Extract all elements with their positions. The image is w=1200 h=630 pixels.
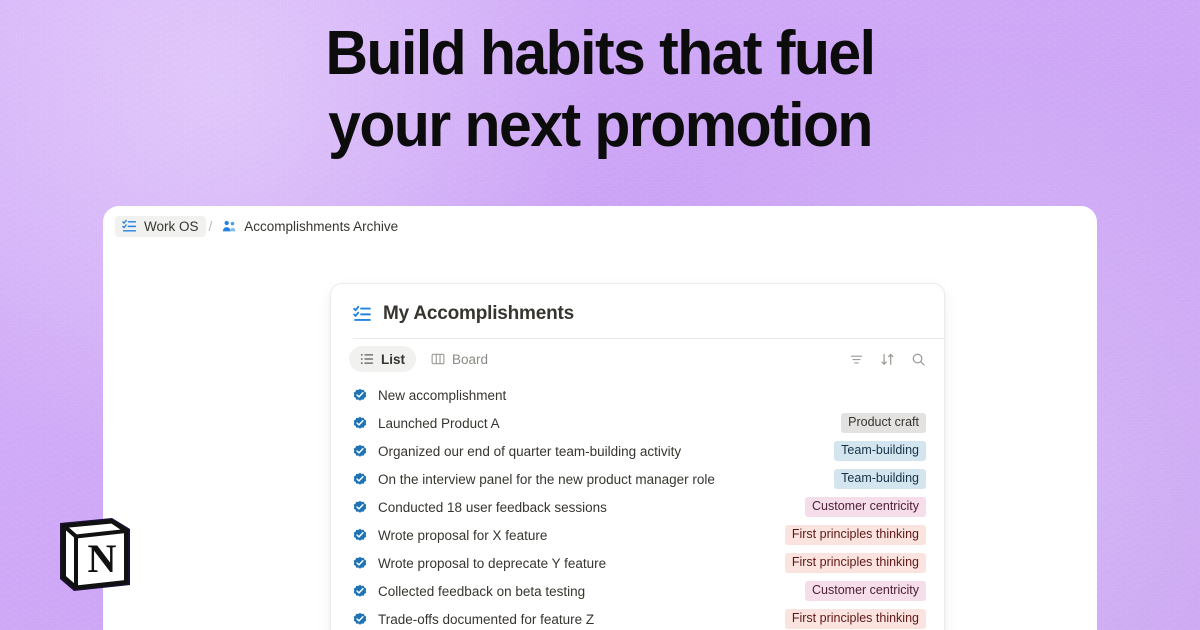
checklist-icon xyxy=(122,219,137,234)
search-icon[interactable] xyxy=(911,352,926,367)
tab-list-label: List xyxy=(381,352,405,367)
verified-check-icon xyxy=(353,416,367,430)
notion-logo: N xyxy=(50,509,138,597)
list-item-title: Wrote proposal to deprecate Y feature xyxy=(378,556,606,571)
list-item-tag[interactable]: First principles thinking xyxy=(785,609,926,629)
list-item-title: Launched Product A xyxy=(378,416,500,431)
breadcrumb-item-work-os[interactable]: Work OS xyxy=(115,216,206,237)
page-headline: Build habits that fuel your next promoti… xyxy=(0,18,1200,162)
list-item-title: On the interview panel for the new produ… xyxy=(378,472,715,487)
verified-check-icon xyxy=(353,472,367,486)
list-item-tag[interactable]: Team-building xyxy=(834,441,926,461)
list-item-title: Trade-offs documented for feature Z xyxy=(378,612,594,627)
list-item[interactable]: Trade-offs documented for feature Z Firs… xyxy=(353,605,926,630)
list-item-tag[interactable]: Team-building xyxy=(834,469,926,489)
list-item-title: Organized our end of quarter team-buildi… xyxy=(378,444,681,459)
board-icon xyxy=(431,352,445,366)
list-item[interactable]: Conducted 18 user feedback sessions Cust… xyxy=(353,493,926,521)
headline-line-2: your next promotion xyxy=(30,90,1170,162)
list-item[interactable]: Collected feedback on beta testing Custo… xyxy=(353,577,926,605)
toolbar-actions xyxy=(849,352,926,367)
breadcrumb: Work OS / Accomplishments Archive xyxy=(103,206,1097,246)
headline-line-1: Build habits that fuel xyxy=(30,18,1170,90)
svg-text:N: N xyxy=(88,536,117,581)
list-item[interactable]: On the interview panel for the new produ… xyxy=(353,465,926,493)
database-toolbar: List Board xyxy=(331,339,944,379)
verified-check-icon xyxy=(353,500,367,514)
checklist-icon xyxy=(353,305,372,324)
database-card: My Accomplishments List xyxy=(330,283,945,630)
verified-check-icon xyxy=(353,584,367,598)
verified-check-icon xyxy=(353,612,367,626)
list-item-tag[interactable]: First principles thinking xyxy=(785,525,926,545)
list-item-tag[interactable]: Customer centricity xyxy=(805,581,926,601)
list-item-tag[interactable]: Product craft xyxy=(841,413,926,433)
view-tabs: List Board xyxy=(349,346,499,372)
list-item[interactable]: Wrote proposal for X feature First princ… xyxy=(353,521,926,549)
list-item-title: Collected feedback on beta testing xyxy=(378,584,585,599)
list-item-tag[interactable]: Customer centricity xyxy=(805,497,926,517)
verified-check-icon xyxy=(353,388,367,402)
filter-icon[interactable] xyxy=(849,352,864,367)
app-window: Work OS / Accomplishments Archive My Acc… xyxy=(103,206,1097,630)
list-item[interactable]: Launched Product A Product craft xyxy=(353,409,926,437)
list-item-title: New accomplishment xyxy=(378,388,506,403)
page-title: My Accomplishments xyxy=(383,303,574,325)
tab-list[interactable]: List xyxy=(349,346,416,372)
tab-board-label: Board xyxy=(452,352,488,367)
breadcrumb-label-work-os: Work OS xyxy=(144,219,199,234)
sort-icon[interactable] xyxy=(880,352,895,367)
breadcrumb-separator: / xyxy=(206,219,216,234)
people-icon xyxy=(222,219,237,234)
list-item[interactable]: Wrote proposal to deprecate Y feature Fi… xyxy=(353,549,926,577)
verified-check-icon xyxy=(353,444,367,458)
accomplishments-list: New accomplishment Launched Product A Pr… xyxy=(331,379,944,630)
list-item-title: Conducted 18 user feedback sessions xyxy=(378,500,607,515)
list-item[interactable]: New accomplishment xyxy=(353,381,926,409)
database-title-row: My Accomplishments xyxy=(331,284,944,338)
list-item-tag[interactable]: First principles thinking xyxy=(785,553,926,573)
verified-check-icon xyxy=(353,528,367,542)
verified-check-icon xyxy=(353,556,367,570)
list-item-title: Wrote proposal for X feature xyxy=(378,528,547,543)
breadcrumb-label-accomplishments-archive: Accomplishments Archive xyxy=(244,219,398,234)
list-item[interactable]: Organized our end of quarter team-buildi… xyxy=(353,437,926,465)
breadcrumb-item-accomplishments-archive[interactable]: Accomplishments Archive xyxy=(215,216,405,237)
tab-board[interactable]: Board xyxy=(420,346,499,372)
list-icon xyxy=(360,352,374,366)
